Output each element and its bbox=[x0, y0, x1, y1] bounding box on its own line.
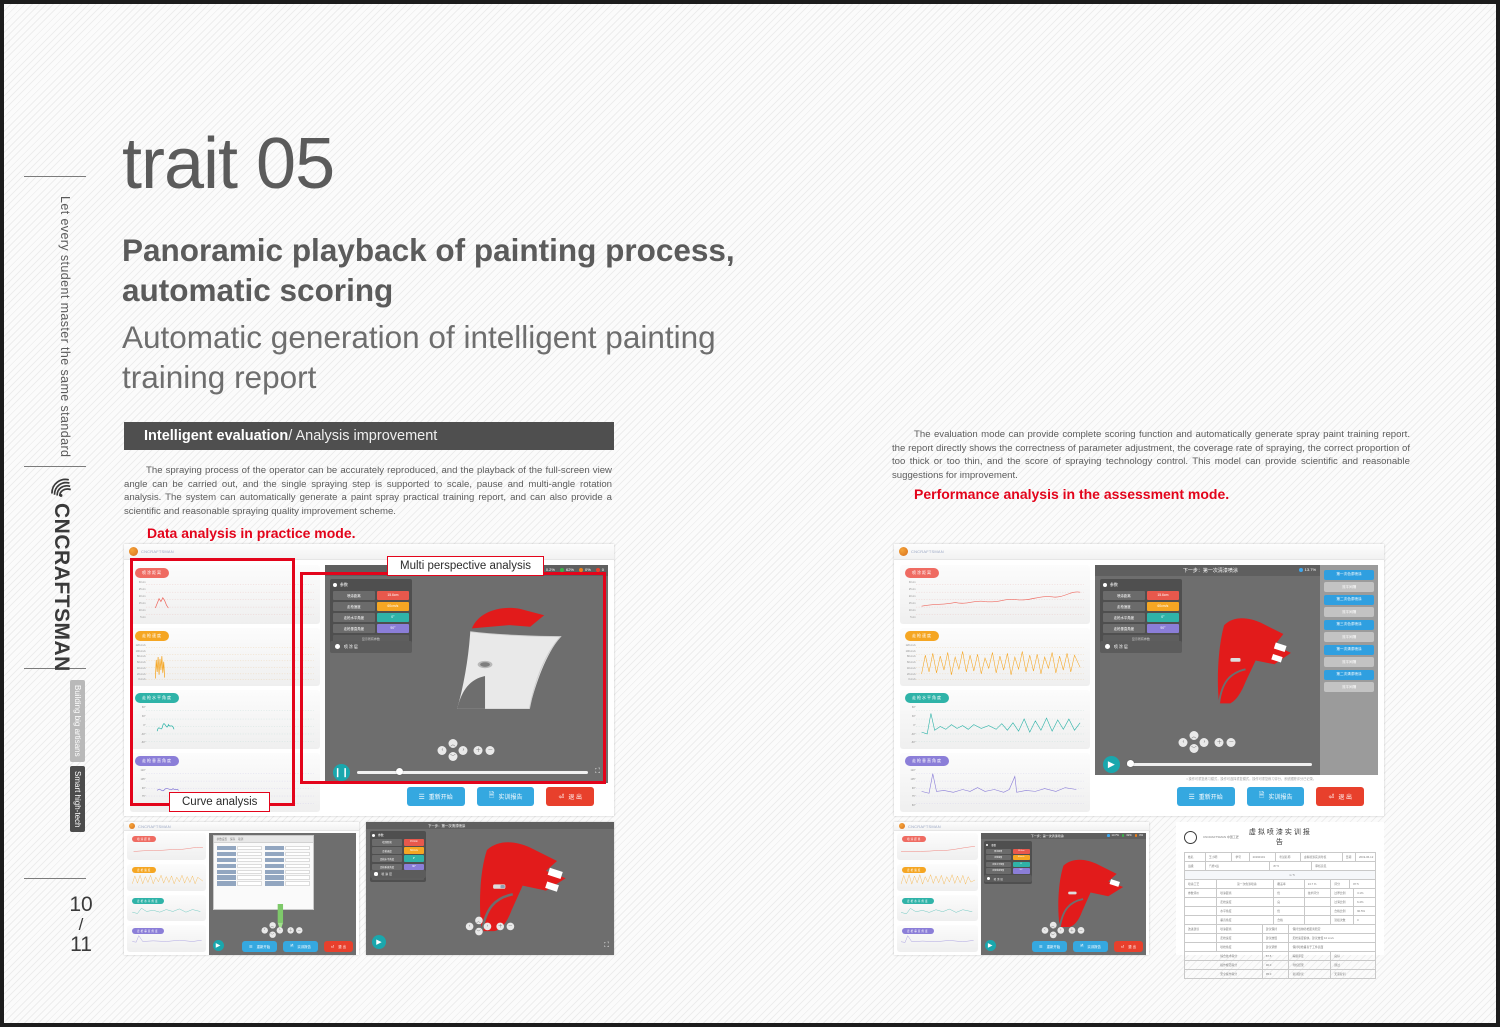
chart-plot bbox=[146, 644, 314, 681]
param-value: 60cm/s bbox=[1147, 602, 1179, 611]
zoom-out-button[interactable]: － bbox=[1227, 738, 1236, 747]
rotate-left-button[interactable]: ‹ bbox=[262, 927, 268, 933]
fullscreen-icon[interactable]: ⛶ bbox=[595, 768, 600, 776]
next-step-status: 下一步：第一次清漆喷涂 bbox=[1031, 834, 1064, 838]
playback-bar[interactable]: ❙❙ ⛶ bbox=[325, 761, 608, 783]
param-key: 喷涂距离 bbox=[986, 849, 1011, 854]
table-row: 走枪速度 建议放慢 走枪速度偏快，建议放慢 10 cm/s bbox=[1185, 934, 1375, 943]
param-value: 90° bbox=[1147, 624, 1179, 633]
dialog-row bbox=[265, 870, 310, 874]
tick: 60 cm/s bbox=[901, 661, 915, 664]
tick: 80 cm/s bbox=[131, 655, 145, 658]
view-controls[interactable]: ︿ ‹ › ﹀ ＋ － bbox=[466, 917, 514, 936]
param-key: 走枪速度 bbox=[986, 855, 1011, 860]
pct-value: 0 bbox=[602, 567, 604, 572]
right-red-caption: Performance analysis in the assessment m… bbox=[914, 486, 1229, 502]
tick: 40 cm/s bbox=[901, 667, 915, 670]
exit-button-label: 退 出 bbox=[338, 944, 346, 949]
chart-horizontal-angle: 走枪水平角度 bbox=[127, 895, 206, 922]
step-list-panel[interactable]: 第一次色漆喷涂 流平间隔 第二次色漆喷涂 流平间隔 第三次色漆喷涂 流平间隔 第… bbox=[1320, 565, 1378, 775]
pct-green: 62% bbox=[560, 567, 574, 572]
zoom-controls[interactable]: ＋ － bbox=[1069, 927, 1085, 934]
report-button-label: 实训报告 bbox=[297, 944, 311, 949]
multi-perspective-viewer[interactable]: 打开沙量参数面板 正在运行：第一次色漆喷涂 0.2% 62% 0% 0 参数 喷… bbox=[325, 565, 608, 783]
restart-button[interactable]: ☰重新开始 bbox=[1032, 941, 1067, 952]
pct-value: 62% bbox=[566, 567, 574, 572]
zoom-in-button[interactable]: ＋ bbox=[1069, 927, 1076, 934]
param-value: 60cm/s bbox=[377, 602, 409, 611]
tick: 60 cm/s bbox=[131, 661, 145, 664]
table-row: 班级 汽修1班 87.5 审核意见 bbox=[1185, 862, 1375, 871]
dialog-body bbox=[214, 843, 313, 889]
param-value: 0° bbox=[1013, 862, 1030, 867]
spray-layer-panel[interactable]: 喷涂层 bbox=[370, 870, 426, 878]
layer-bullet-icon bbox=[374, 872, 378, 876]
rotate-left-button[interactable]: ‹ bbox=[438, 746, 447, 755]
zoom-in-button[interactable]: ＋ bbox=[474, 746, 483, 755]
rail-chips: Building big artisans Smart high-tech bbox=[70, 680, 85, 832]
dialog-row bbox=[265, 875, 310, 879]
chart-distance: 喷涂距离 30 cm 25 cm 20 cm 15 cm 10 cm 5 cm bbox=[900, 565, 1090, 624]
poster-page: Let every student master the same standa… bbox=[0, 0, 1500, 1027]
chip-smart-high-tech: Smart high-tech bbox=[70, 766, 85, 832]
rotate-right-button[interactable]: › bbox=[1058, 927, 1065, 934]
param-row: 走枪垂直角度90° bbox=[333, 624, 409, 633]
chart-plot bbox=[897, 872, 978, 887]
pct-orange: 0% bbox=[1135, 834, 1143, 837]
parameter-panel: 参数 喷涂距离15.6cm 走枪速度60cm/s 走枪水平角度0° 走枪垂直角度… bbox=[1100, 579, 1182, 646]
pct-value: 0% bbox=[1139, 834, 1143, 837]
curve-analysis-panel: 喷涂距离 30 cm 25 cm 20 cm 15 cm 10 cm 5 cm bbox=[124, 559, 325, 816]
parameter-panel-title: 参数 bbox=[333, 582, 409, 588]
report-icon: 🗎 bbox=[1080, 943, 1083, 950]
step-button[interactable]: 第一次色漆喷涂 bbox=[1324, 570, 1374, 580]
report-icon: 🗎 bbox=[489, 791, 495, 802]
dialog-table-right bbox=[265, 846, 310, 886]
chart-speed: 走枪速度 120 cm/s 100 cm/s 80 cm/s 60 cm/s 4… bbox=[130, 628, 320, 687]
chart-distance: 喷涂距离 30 cm 25 cm 20 cm 15 cm 10 cm 5 cm bbox=[130, 565, 320, 624]
table-row: 走枪速度 良 过薄比例 6.4% bbox=[1185, 898, 1375, 907]
main-heading: Panoramic playback of painting process, … bbox=[122, 230, 762, 311]
param-value: 0° bbox=[404, 855, 424, 862]
zoom-out-button[interactable]: － bbox=[296, 927, 302, 933]
pct-blue: 13.7% bbox=[1107, 834, 1119, 837]
view-controls[interactable]: ︿ ‹ › ﹀ ＋ － bbox=[438, 739, 495, 761]
param-value: 60cm/s bbox=[404, 847, 424, 854]
chart-distance: 喷涂距离 bbox=[897, 833, 978, 860]
chart-plot bbox=[916, 706, 1084, 743]
viewer-column: 打开沙量参数面板 下一步：第一次清漆喷涂 13.7% 参数 喷涂距离15.6cm… bbox=[1095, 559, 1384, 816]
rotate-up-button[interactable]: ︿ bbox=[475, 917, 483, 925]
rail-tagline: Let every student master the same standa… bbox=[58, 196, 72, 457]
chart-axis: 30 cm 25 cm 20 cm 15 cm 10 cm 5 cm bbox=[146, 581, 314, 619]
restart-button[interactable]: ☰重新开始 bbox=[242, 941, 277, 952]
brand-name: CNCRAFTSMAN bbox=[49, 503, 73, 672]
zoom-controls[interactable]: ＋ － bbox=[496, 922, 514, 930]
param-row: 走枪水平角度0° bbox=[372, 855, 424, 862]
view-controls[interactable]: ︿ ‹ › ﹀ ＋ － bbox=[1042, 922, 1085, 939]
param-row: 走枪速度60cm/s bbox=[986, 855, 1030, 860]
param-row: 走枪速度60cm/s bbox=[1103, 602, 1179, 611]
param-key: 走枪垂直角度 bbox=[986, 868, 1011, 873]
param-row: 走枪速度60cm/s bbox=[333, 602, 409, 611]
coverage-indicators: 13.7% 62% 0% bbox=[1107, 834, 1143, 837]
param-value: 90° bbox=[377, 624, 409, 633]
chart-plot bbox=[897, 933, 978, 948]
trait-heading: trait 05 bbox=[122, 128, 334, 200]
parameter-setting-thumbnail: CNCRAFTSMAN 喷涂距离 走枪速度 走枪水平角度 走枪垂直角度 bbox=[124, 822, 359, 955]
chart-plot bbox=[916, 644, 1084, 681]
rotate-left-button[interactable]: ‹ bbox=[466, 922, 474, 930]
rotate-up-button[interactable]: ︿ bbox=[448, 739, 457, 748]
tick: 10 cm bbox=[131, 609, 145, 612]
dpad[interactable]: ︿ ‹ › ﹀ bbox=[1179, 731, 1209, 753]
rotate-right-button[interactable]: › bbox=[484, 922, 492, 930]
pause-button[interactable]: ❙❙ bbox=[333, 764, 350, 781]
chart-ticks: 60° 30° 0° -30° -60° bbox=[131, 706, 146, 744]
rotate-down-button[interactable]: ﹀ bbox=[1189, 744, 1198, 753]
page-number: 10 / 11 bbox=[64, 894, 98, 956]
table-row: 姓名 王小明 学号 20190101 考试名称 虚拟喷漆实训考核 日期 2019… bbox=[1185, 853, 1375, 862]
action-button-row: ☰重新开始 🗎实训报告 ⏎退 出 bbox=[1032, 939, 1149, 955]
dialog-row bbox=[265, 846, 310, 850]
timeline-track[interactable] bbox=[357, 771, 588, 774]
chart-label: 喷涂距离 bbox=[905, 568, 939, 578]
tick: 60° bbox=[901, 804, 915, 807]
chart-plot bbox=[127, 841, 206, 855]
timeline-knob[interactable] bbox=[1127, 760, 1134, 767]
zoom-controls[interactable]: ＋ － bbox=[1215, 738, 1236, 747]
table-row: 1 / 5 bbox=[1185, 871, 1375, 880]
param-row: 走枪速度60cm/s bbox=[372, 847, 424, 854]
step-button[interactable]: 第三次色漆喷涂 bbox=[1324, 620, 1374, 630]
zoom-in-button[interactable]: ＋ bbox=[288, 927, 294, 933]
chart-plot bbox=[897, 841, 978, 856]
param-row: 走枪水平角度0° bbox=[986, 862, 1030, 867]
rotate-right-button[interactable]: › bbox=[459, 746, 468, 755]
section-bar-rest: / Analysis improvement bbox=[288, 428, 437, 444]
dpad[interactable]: ︿ ‹ › ﹀ bbox=[262, 922, 284, 938]
play-button[interactable]: ▶ bbox=[372, 935, 386, 949]
zoom-out-button[interactable]: － bbox=[1078, 927, 1085, 934]
tick: 75° bbox=[901, 795, 915, 798]
action-button-row: ☰重新开始 🗎实训报告 ⏎退 出 bbox=[242, 939, 359, 955]
chart-speed: 走枪速度 bbox=[897, 864, 978, 891]
rotate-right-button[interactable]: › bbox=[277, 927, 283, 933]
zoom-in-button[interactable]: ＋ bbox=[496, 922, 504, 930]
coverage-indicator: 13.7% bbox=[1299, 567, 1316, 572]
view-controls[interactable]: ︿ ‹ › ﹀ ＋ － bbox=[262, 922, 303, 938]
zoom-in-button[interactable]: ＋ bbox=[1215, 738, 1224, 747]
param-value: 15.6cm bbox=[404, 839, 424, 846]
step-button[interactable]: 流平间隔 bbox=[1324, 607, 1374, 617]
chart-plot bbox=[146, 581, 314, 618]
cncraftsman-logo-icon bbox=[48, 474, 74, 500]
report-button[interactable]: 🗎实训报告 bbox=[1073, 941, 1108, 952]
chart-speed: 走枪速度 bbox=[127, 864, 206, 891]
action-button-row: ☰重新开始 🗎实训报告 ⏎退 出 bbox=[1095, 783, 1378, 812]
app-name: CNCRAFTSMAN bbox=[908, 824, 941, 829]
table-row: 喷涂工艺 第一次色漆喷涂 覆盖率 13.7 % 评分 87.5 bbox=[1185, 880, 1375, 889]
rotate-down-button[interactable]: ﹀ bbox=[448, 752, 457, 761]
coverage-value: 13.7% bbox=[1305, 567, 1316, 572]
zoom-out-button[interactable]: － bbox=[507, 922, 515, 930]
rotate-down-button[interactable]: ﹀ bbox=[269, 931, 275, 937]
sub-heading: Automatic generation of intelligent pain… bbox=[122, 317, 762, 398]
param-value: 15.6cm bbox=[377, 591, 409, 600]
training-report-thumbnail[interactable]: CNCRAFTSMAN 中国工匠 虚拟喷漆实训报告 姓名 王小明 学号 2019… bbox=[1176, 822, 1384, 955]
dialog-row bbox=[217, 852, 262, 856]
tick: 5 cm bbox=[131, 616, 145, 619]
layer-label: 喷涂层 bbox=[994, 877, 1004, 881]
fullscreen-icon[interactable]: ⛶ bbox=[604, 942, 609, 950]
layer-bullet-icon bbox=[987, 877, 990, 880]
dialog-table-left bbox=[217, 846, 262, 886]
parameter-dialog[interactable]: 参数设置保存取消 bbox=[213, 835, 314, 910]
spray-layer-panel[interactable]: 喷涂层 bbox=[330, 641, 412, 653]
restart-button-label: 重新开始 bbox=[257, 944, 271, 949]
chart-vertical-angle: 走枪垂直角度 bbox=[897, 925, 978, 952]
viewer-topbar bbox=[366, 822, 614, 829]
exit-button[interactable]: ⏎退 出 bbox=[1316, 787, 1364, 806]
chart-speed: 走枪速度 120 cm/s 100 cm/s 80 cm/s 60 cm/s 4… bbox=[900, 628, 1090, 687]
exit-button-label: 退 出 bbox=[1128, 944, 1136, 949]
layer-label: 喷涂层 bbox=[382, 872, 393, 876]
app-name: CNCRAFTSMAN bbox=[911, 549, 944, 554]
tick: 0° bbox=[901, 724, 915, 727]
param-row: 走枪垂直角度90° bbox=[986, 868, 1030, 873]
rotate-right-button[interactable]: › bbox=[1200, 738, 1209, 747]
step-button[interactable]: 流平间隔 bbox=[1324, 657, 1374, 667]
tick: 20 cm bbox=[131, 595, 145, 598]
param-row: 喷涂距离15.6cm bbox=[986, 849, 1030, 854]
parameter-panel-title: 参数 bbox=[372, 833, 424, 837]
chart-ticks: 120 cm/s 100 cm/s 80 cm/s 60 cm/s 40 cm/… bbox=[131, 644, 146, 682]
chart-label: 走枪水平角度 bbox=[905, 693, 949, 703]
section-bar: Intelligent evaluation / Analysis improv… bbox=[124, 422, 614, 450]
dialog-row bbox=[217, 875, 262, 879]
param-row: 喷涂距离15.6cm bbox=[1103, 591, 1179, 600]
tick: 100 cm/s bbox=[901, 650, 915, 653]
step-button[interactable]: 流平间隔 bbox=[1324, 682, 1374, 692]
section-bar-bold: Intelligent evaluation bbox=[144, 428, 288, 444]
dpad[interactable]: ︿ ‹ › ﹀ bbox=[1042, 922, 1065, 939]
rail-divider bbox=[24, 878, 86, 879]
tick: 30° bbox=[131, 715, 145, 718]
chart-label: 走枪垂直角度 bbox=[905, 756, 949, 766]
exit-icon: ⏎ bbox=[1328, 793, 1334, 801]
restart-button[interactable]: ☰重新开始 bbox=[407, 787, 465, 806]
assessment-thumbnail: CNCRAFTSMAN 喷涂距离 走枪速度 走枪水平角度 走枪垂直角度 bbox=[894, 822, 1149, 955]
list-icon: ☰ bbox=[1039, 944, 1043, 949]
pct-value: 62% bbox=[1126, 834, 1131, 837]
spray-layer-panel[interactable]: 喷涂层 bbox=[984, 875, 1032, 882]
chart-ticks: 120° 105° 90° 75° 60° bbox=[131, 769, 146, 807]
table-row: 垂直角度 合格 流挂次数 0 bbox=[1185, 916, 1375, 925]
app-name: CNCRAFTSMAN bbox=[138, 824, 171, 829]
rotate-down-button[interactable]: ﹀ bbox=[475, 928, 483, 936]
chart-label: 走枪垂直角度 bbox=[135, 756, 179, 766]
report-button-label: 实训报告 bbox=[1268, 792, 1292, 801]
chart-axis: 120 cm/s 100 cm/s 80 cm/s 60 cm/s 40 cm/… bbox=[916, 644, 1084, 682]
tick: 10 cm bbox=[901, 609, 915, 612]
tick: 105° bbox=[131, 778, 145, 781]
chart-axis: 120° 105° 90° 75° 60° bbox=[916, 769, 1084, 807]
view-controls[interactable]: ︿ ‹ › ﹀ ＋ － bbox=[1179, 731, 1236, 753]
dialog-header: 参数设置保存取消 bbox=[214, 836, 313, 843]
param-key: 走枪速度 bbox=[1103, 602, 1145, 611]
tick: 15 cm bbox=[131, 602, 145, 605]
pct-orange: 0% bbox=[579, 567, 591, 572]
chart-axis: 60° 30° 0° -30° -60° bbox=[916, 706, 1084, 744]
param-key: 走枪速度 bbox=[333, 602, 375, 611]
left-paragraph: The spraying process of the operator can… bbox=[124, 464, 612, 518]
zoom-controls[interactable]: ＋ － bbox=[474, 746, 495, 755]
chart-axis: 30 cm 25 cm 20 cm 15 cm 10 cm 5 cm bbox=[916, 581, 1084, 619]
chart-axis: 120 cm/s 100 cm/s 80 cm/s 60 cm/s 40 cm/… bbox=[146, 644, 314, 682]
table-row: 综合技术得分 87.5 等级评定 良好 bbox=[1185, 952, 1375, 961]
rail-divider bbox=[24, 466, 86, 467]
tick: -30° bbox=[131, 733, 145, 736]
viewer-column: 打开沙量参数面板 正在运行：第一次色漆喷涂 0.2% 62% 0% 0 参数 喷… bbox=[325, 559, 614, 816]
exit-icon: ⏎ bbox=[331, 944, 334, 949]
curve-analysis-panel: 喷涂距离 走枪速度 走枪水平角度 走枪垂直角度 bbox=[894, 830, 981, 955]
report-button[interactable]: 🗎实训报告 bbox=[477, 787, 535, 806]
report-icon: 🗎 bbox=[290, 943, 293, 950]
tick: 120° bbox=[901, 769, 915, 772]
param-key: 走枪速度 bbox=[372, 847, 402, 854]
table-row: 喷枪角度 建议调整 保持喷枪垂直于工件表面 bbox=[1185, 943, 1375, 952]
dialog-row bbox=[217, 858, 262, 862]
chart-distance: 喷涂距离 bbox=[127, 833, 206, 860]
play-button[interactable]: ▶ bbox=[213, 940, 224, 951]
tick: 30° bbox=[901, 715, 915, 718]
timeline-knob[interactable] bbox=[396, 768, 403, 775]
report-button-label: 实训报告 bbox=[498, 792, 522, 801]
playback-bar[interactable]: ▶ bbox=[1095, 753, 1320, 775]
chart-plot bbox=[916, 581, 1084, 618]
dialog-row bbox=[265, 858, 310, 862]
exit-button-label: 退 出 bbox=[1338, 792, 1352, 801]
play-button[interactable]: ▶ bbox=[1103, 756, 1120, 773]
tick: 30 cm bbox=[901, 581, 915, 584]
layer-label: 喷涂层 bbox=[1114, 644, 1129, 650]
full-coverage-thumbnail[interactable]: 下一步：第一次清漆喷涂 参数 喷涂距离15.6cm 走枪速度60cm/s 走枪水… bbox=[366, 822, 614, 955]
param-row: 喷涂距离15.6cm bbox=[333, 591, 409, 600]
exit-button[interactable]: ⏎退 出 bbox=[546, 787, 594, 806]
step-button[interactable]: 第二次色漆喷涂 bbox=[1324, 595, 1374, 605]
app-titlebar: CNCRAFTSMAN bbox=[894, 544, 1384, 560]
step-button[interactable]: 第一次清漆喷涂 bbox=[1324, 645, 1374, 655]
rotate-left-button[interactable]: ‹ bbox=[1042, 927, 1049, 934]
rail-divider bbox=[24, 176, 86, 177]
tick: 90° bbox=[131, 787, 145, 790]
spray-layer-panel[interactable]: 喷涂层 bbox=[1100, 641, 1182, 653]
chart-ticks: 30 cm 25 cm 20 cm 15 cm 10 cm 5 cm bbox=[901, 581, 916, 619]
chart-label: 走枪水平角度 bbox=[135, 693, 179, 703]
table-row: 安全操作得分 95.0 复训建议 无需复训 bbox=[1185, 970, 1375, 979]
rotate-up-button[interactable]: ︿ bbox=[1189, 731, 1198, 740]
param-row: 走枪水平角度0° bbox=[1103, 613, 1179, 622]
param-key: 走枪垂直角度 bbox=[333, 624, 375, 633]
list-icon: ☰ bbox=[249, 944, 253, 949]
rotate-up-button[interactable]: ︿ bbox=[269, 922, 275, 928]
tick: 120° bbox=[131, 769, 145, 772]
param-value: 15.6cm bbox=[1013, 849, 1030, 854]
chart-ticks: 120° 105° 90° 75° 60° bbox=[901, 769, 916, 807]
cncraftsman-logo-icon bbox=[1184, 831, 1197, 844]
curve-analysis-panel: 喷涂距离 走枪速度 走枪水平角度 走枪垂直角度 bbox=[124, 830, 209, 955]
fender-3d-model-red bbox=[1180, 579, 1306, 734]
param-row: 喷涂距离15.6cm bbox=[372, 839, 424, 846]
multi-perspective-annotation: Multi perspective analysis bbox=[387, 556, 544, 576]
param-key: 喷涂距离 bbox=[333, 591, 375, 600]
report-section-label: 1 / 5 bbox=[1206, 871, 1375, 879]
tick: 5 cm bbox=[901, 616, 915, 619]
layer-bullet-icon bbox=[1105, 644, 1110, 649]
play-button[interactable]: ▶ bbox=[985, 940, 996, 951]
dialog-row bbox=[217, 870, 262, 874]
parameter-panel-title: 参数 bbox=[1103, 582, 1179, 588]
step-button[interactable]: 流平间隔 bbox=[1324, 582, 1374, 592]
action-button-row: ☰重新开始 🗎实训报告 ⏎退 出 bbox=[325, 783, 608, 812]
assessment-viewer[interactable]: 打开沙量参数面板 下一步：第一次清漆喷涂 13.7% 参数 喷涂距离15.6cm… bbox=[1095, 565, 1320, 775]
tick: -30° bbox=[901, 733, 915, 736]
exit-button[interactable]: ⏎退 出 bbox=[1114, 941, 1143, 952]
report-button[interactable]: 🗎实训报告 bbox=[283, 941, 318, 952]
report-header: CNCRAFTSMAN 中国工匠 虚拟喷漆实训报告 bbox=[1176, 822, 1384, 852]
tick: 105° bbox=[901, 778, 915, 781]
chart-horizontal-angle: 走枪水平角度 60° 30° 0° -30° -60° bbox=[130, 690, 320, 749]
step-button[interactable]: 第二次清漆喷涂 bbox=[1324, 670, 1374, 680]
curve-analysis-panel: 喷涂距离 30 cm 25 cm 20 cm 15 cm 10 cm 5 cm bbox=[894, 559, 1095, 816]
report-icon: 🗎 bbox=[1259, 791, 1265, 802]
param-key: 喷涂距离 bbox=[372, 839, 402, 846]
app-name: CNCRAFTSMAN bbox=[141, 549, 174, 554]
chart-horizontal-angle: 走枪水平角度 bbox=[897, 895, 978, 922]
restart-button[interactable]: ☰重新开始 bbox=[1177, 787, 1235, 806]
exit-icon: ⏎ bbox=[1121, 944, 1124, 949]
restart-button-label: 重新开始 bbox=[1047, 944, 1061, 949]
chart-ticks: 60° 30° 0° -30° -60° bbox=[901, 706, 916, 744]
dialog-row bbox=[265, 864, 310, 868]
rotate-up-button[interactable]: ︿ bbox=[1050, 922, 1057, 929]
timeline-track[interactable] bbox=[1127, 763, 1312, 766]
table-row: 水平角度 优 合格比例 90.5% bbox=[1185, 907, 1375, 916]
brand-block: CNCRAFTSMAN bbox=[48, 474, 74, 672]
zoom-out-button[interactable]: － bbox=[486, 746, 495, 755]
report-table: 姓名 王小明 学号 20190101 考试名称 虚拟喷漆实训考核 日期 2019… bbox=[1184, 852, 1376, 979]
rotate-down-button[interactable]: ﹀ bbox=[1050, 932, 1057, 939]
dialog-row bbox=[217, 864, 262, 868]
exit-button[interactable]: ⏎退 出 bbox=[324, 941, 353, 952]
dpad[interactable]: ︿ ‹ › ﹀ bbox=[438, 739, 468, 761]
dpad[interactable]: ︿ ‹ › ﹀ bbox=[466, 917, 492, 936]
report-title: 虚拟喷漆实训报告 bbox=[1245, 827, 1316, 847]
tick: 75° bbox=[131, 795, 145, 798]
step-button[interactable]: 流平间隔 bbox=[1324, 632, 1374, 642]
tick: 25 cm bbox=[901, 588, 915, 591]
page-total: 11 bbox=[64, 934, 98, 956]
left-rail: Let every student master the same standa… bbox=[24, 8, 86, 1019]
tick: 30 cm bbox=[131, 581, 145, 584]
exit-icon: ⏎ bbox=[558, 793, 564, 801]
fender-3d-model-red bbox=[1030, 848, 1132, 933]
rotate-left-button[interactable]: ‹ bbox=[1179, 738, 1188, 747]
exit-button-label: 退 出 bbox=[568, 792, 582, 801]
report-button[interactable]: 🗎实训报告 bbox=[1247, 787, 1305, 806]
zoom-controls[interactable]: ＋ － bbox=[288, 927, 303, 933]
